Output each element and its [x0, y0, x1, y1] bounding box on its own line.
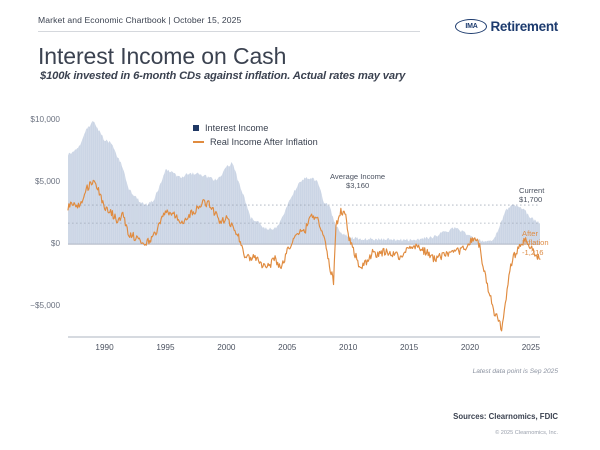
y-tick-label: $0	[0, 239, 60, 248]
latest-data-point-note: Latest data point is Sep 2025	[473, 368, 558, 375]
page-subtitle: $100k invested in 6-month CDs against in…	[40, 70, 405, 82]
copyright-note: © 2025 Clearnomics, Inc.	[495, 430, 558, 436]
x-tick-label: 2025	[506, 343, 556, 352]
chart-legend: Interest Income Real Income After Inflat…	[193, 121, 318, 149]
legend-item-real-income: Real Income After Inflation	[193, 135, 318, 149]
legend-line-icon	[193, 141, 204, 143]
annotation-average-income-value: $3,160	[330, 181, 385, 190]
page-title: Interest Income on Cash	[38, 43, 286, 70]
x-tick-label: 1995	[140, 343, 190, 352]
sources-note: Sources: Clearnomics, FDIC	[453, 412, 558, 421]
annotation-current-value: $1,700	[519, 195, 544, 204]
legend-square-icon	[193, 125, 199, 131]
x-tick-label: 2005	[262, 343, 312, 352]
chart-page: Market and Economic Chartbook | October …	[0, 0, 600, 450]
legend-label-real-income: Real Income After Inflation	[210, 137, 318, 147]
ima-retirement-logo: IMA Retirement	[455, 19, 558, 34]
annotation-after-inflation-value: -1,216	[522, 248, 549, 257]
annotation-average-income: Average Income $3,160	[330, 172, 385, 191]
x-tick-label: 2010	[323, 343, 373, 352]
x-tick-label: 2015	[384, 343, 434, 352]
annotation-average-income-label: Average Income	[330, 172, 385, 181]
annotation-current-label: Current	[519, 186, 544, 195]
x-tick-label: 2000	[201, 343, 251, 352]
legend-item-interest-income: Interest Income	[193, 121, 318, 135]
y-tick-label: −$5,000	[0, 301, 60, 310]
y-tick-label: $10,000	[0, 115, 60, 124]
annotation-current: Current $1,700	[519, 186, 544, 205]
annotation-after-inflation: After Inflation -1,216	[522, 229, 549, 257]
legend-label-interest-income: Interest Income	[205, 123, 268, 133]
logo-wordmark: Retirement	[490, 19, 558, 34]
y-tick-label: $5,000	[0, 177, 60, 186]
ima-oval-logo-icon: IMA	[455, 19, 487, 34]
x-tick-label: 2020	[445, 343, 495, 352]
x-tick-label: 1990	[80, 343, 130, 352]
annotation-after-inflation-label-2: Inflation	[522, 238, 549, 247]
header-divider	[38, 31, 420, 32]
annotation-after-inflation-label-1: After	[522, 229, 549, 238]
chartbook-kicker: Market and Economic Chartbook | October …	[38, 15, 241, 25]
